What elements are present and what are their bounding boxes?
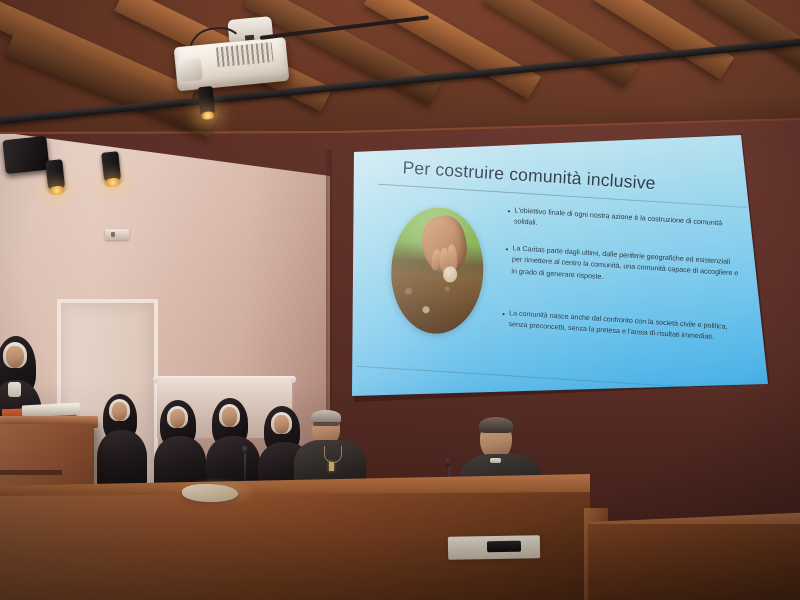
wall-switch-plate [105,229,129,240]
slide-bullet-text: La comunità nasce anche dal confronto co… [508,309,727,341]
bullet-marker-icon: • [505,244,508,257]
presentation-slide: Per costruire comunità inclusive • L'obi… [339,140,763,418]
nun-bib [8,382,21,397]
bishop-glasses [313,422,339,426]
slide-bullet-2: • La Caritas parte dagli ultimi, dalle p… [511,243,740,292]
slide-photo-soil [388,273,483,337]
track-spotlight-2 [101,151,122,188]
plastic-bag [182,484,238,502]
bishop-pectoral-cross-chain [324,446,342,463]
nun-face [170,409,185,428]
bullet-marker-icon: • [507,206,510,219]
ceiling-projector [174,37,291,101]
track-spotlight-3 [198,86,216,120]
track-light-housing [2,136,49,174]
nun-face [6,346,24,368]
track-spotlight-1 [45,159,66,196]
bishop-pectoral-cross-icon [329,462,334,471]
slide-bullet-3: • La comunità nasce anche dal confronto … [508,308,737,345]
projector-lens [177,58,203,82]
priest-collar [490,458,501,463]
projector-body [174,37,290,92]
projector-vent [216,42,274,67]
slide-bullet-text: La Caritas parte dagli ultimi, dalle per… [511,244,738,281]
microphone-head [242,446,247,454]
slide-bullet-text: L'obiettivo finale di ogni nostra azione… [514,206,723,227]
slide-photo-seed-sowing [388,205,486,337]
slide-bullet-1: • L'obiettivo finale di ogni nostra azio… [514,205,740,242]
mobile-phone[interactable] [487,541,521,553]
side-table-front [588,524,800,600]
person-nun-3 [206,398,258,490]
conference-room-photo: Per costruire comunità inclusive • L'obi… [0,0,800,600]
person-nun-1 [99,394,147,486]
slide-title: Per costruire comunità inclusive [402,157,742,199]
lectern-shelf [0,470,62,475]
priest-hair [479,417,513,433]
nun-face [112,402,127,421]
slide-bottom-rule [356,366,745,391]
wall-switch-plate-detail [111,232,115,237]
nun-face [274,415,289,434]
microphone-head [445,459,450,467]
nun-habit [97,430,147,488]
bullet-marker-icon: • [502,309,505,322]
person-nun-2 [156,400,206,490]
nun-face [222,407,237,427]
